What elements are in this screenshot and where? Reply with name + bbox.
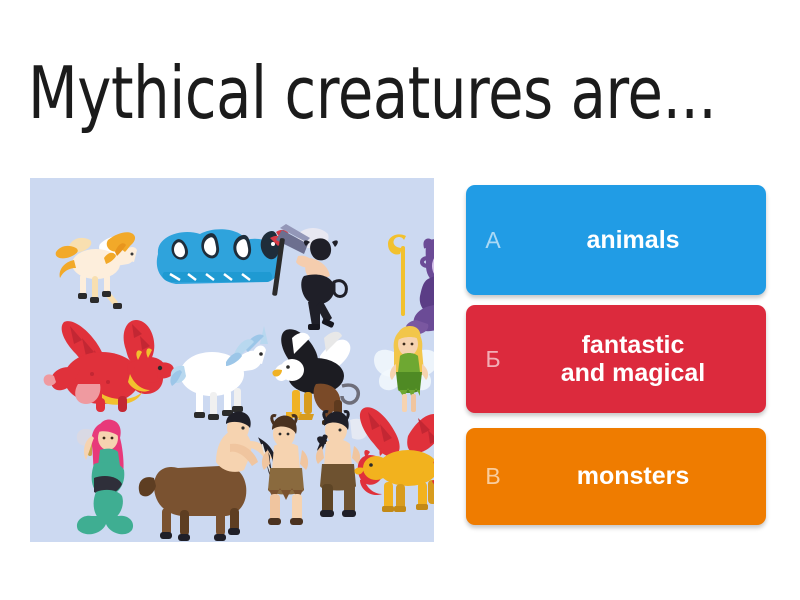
unicorn-figure bbox=[170, 326, 268, 420]
fairy-figure bbox=[374, 326, 434, 412]
minotaur-figure bbox=[272, 224, 346, 330]
dragon-figure bbox=[44, 320, 174, 412]
page-title: Mythical creatures are... bbox=[28, 48, 636, 138]
mermaid-figure bbox=[77, 420, 133, 535]
answer-option-c[interactable]: В monsters bbox=[466, 428, 766, 525]
creatures-illustration bbox=[30, 178, 434, 542]
mythical-creatures-image bbox=[30, 178, 434, 542]
option-c-letter: В bbox=[466, 463, 520, 490]
answer-option-b[interactable]: Б fantastic and magical bbox=[466, 305, 766, 413]
centaur-figure bbox=[139, 412, 276, 542]
option-c-label: monsters bbox=[520, 462, 766, 491]
chimera-figure bbox=[354, 407, 434, 512]
hydra-figure bbox=[157, 229, 289, 284]
option-b-letter: Б bbox=[466, 346, 520, 373]
answer-option-a[interactable]: A animals bbox=[466, 185, 766, 295]
option-a-letter: A bbox=[466, 227, 520, 254]
pegasus-figure bbox=[56, 232, 137, 309]
quiz-slide: Mythical creatures are... bbox=[0, 0, 800, 600]
option-a-label: animals bbox=[520, 226, 766, 255]
medusa-figure bbox=[388, 231, 434, 335]
option-b-label: fantastic and magical bbox=[520, 331, 766, 388]
